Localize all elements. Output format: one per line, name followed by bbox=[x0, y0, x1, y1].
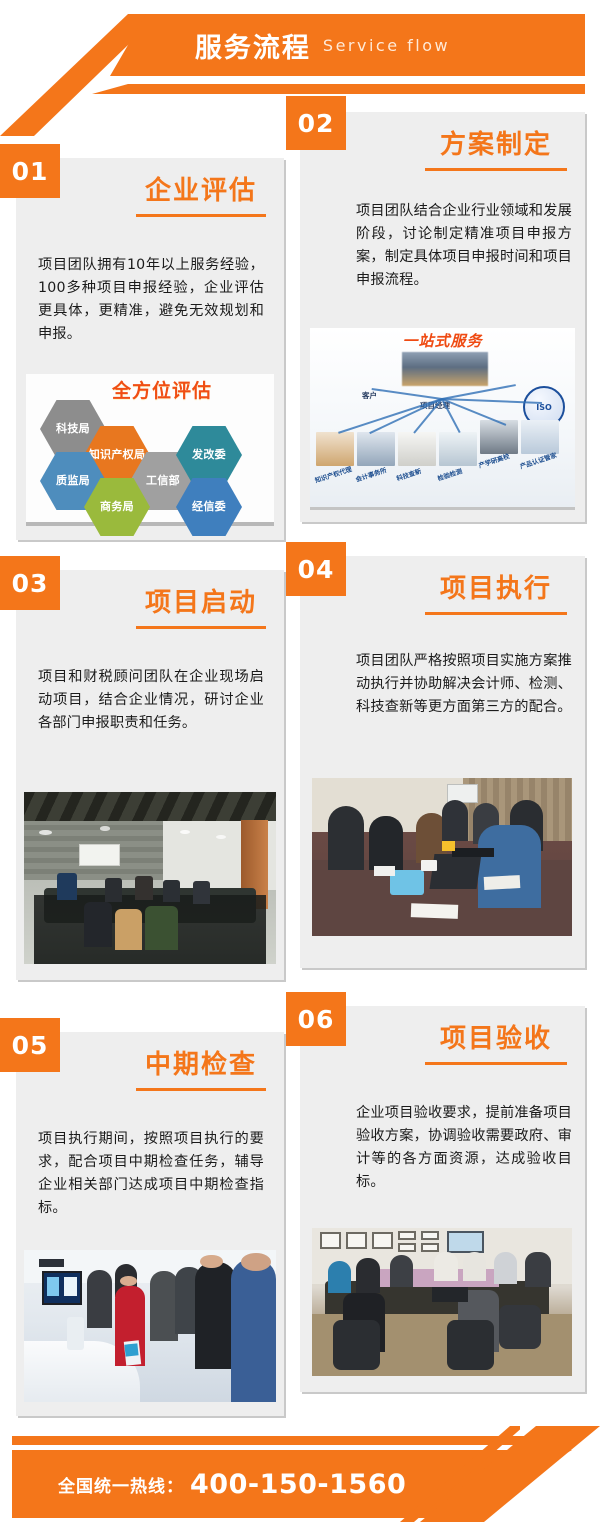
hex-node-label: 商务局 bbox=[100, 501, 134, 513]
card-title-06: 项目验收 bbox=[417, 1018, 575, 1065]
flow-arrow bbox=[372, 388, 442, 400]
flow-node bbox=[480, 420, 518, 454]
card-title-03: 项目启动 bbox=[128, 582, 274, 629]
page-title: 服务流程 bbox=[195, 26, 311, 65]
hex-node-label: 发改委 bbox=[192, 449, 226, 461]
card-header-01: 企业评估 bbox=[16, 158, 284, 234]
hex-node-label: 产权局 bbox=[111, 449, 145, 461]
hex-node-label: 科技局 bbox=[56, 423, 90, 435]
flow-diagram-title: 一站式服务 bbox=[310, 330, 575, 351]
hex-node-label: 经信委 bbox=[192, 501, 226, 513]
flow-diagram-image: 一站式服务 客户 项目经理 ISO 知识产权代理会计事务所科技查新检验检测产学研… bbox=[310, 328, 575, 510]
title-underline bbox=[136, 1088, 266, 1091]
flow-arrow bbox=[442, 384, 516, 400]
photo-acceptance-meeting bbox=[312, 1228, 572, 1376]
card-title-05: 中期检查 bbox=[128, 1044, 274, 1091]
hex-node-label: 工信部 bbox=[146, 475, 180, 487]
hex-diagram: 全方位评估 科技局知识产权局质监局工信部商务局发改委经信委 bbox=[26, 374, 274, 526]
step-card-03: 03 项目启动 项目和财税顾问团队在企业现场启动项目，结合企业情况，研讨企业各部… bbox=[16, 570, 284, 980]
flow-node bbox=[316, 432, 354, 466]
card-body-05: 项目执行期间，按照项目执行的要求，配合项目中期检查任务，辅导企业相关部门达成项目… bbox=[38, 1128, 264, 1220]
flow-node-label: 检验检测 bbox=[436, 466, 463, 482]
flow-node-label: 产学研高校 bbox=[477, 451, 510, 469]
step-card-02: 02 方案制定 项目团队结合企业行业领域和发展阶段，讨论制定精准项目申报方案，制… bbox=[300, 112, 585, 522]
flow-node bbox=[521, 420, 559, 454]
card-body-06: 企业项目验收要求，提前准备项目验收方案，协调验收需要政府、审计等的各方面资源，达… bbox=[356, 1102, 572, 1194]
flow-center-photo bbox=[402, 352, 488, 386]
card-title-02: 方案制定 bbox=[417, 124, 575, 171]
card-header-06: 项目验收 bbox=[300, 1006, 585, 1082]
flow-client-label: 客户 bbox=[362, 390, 377, 401]
card-body-02: 项目团队结合企业行业领域和发展阶段，讨论制定精准项目申报方案，制定具体项目申报时… bbox=[356, 200, 572, 292]
step-card-06: 06 项目验收 企业项目验收要求，提前准备项目验收方案，协调验收需要政府、审计等… bbox=[300, 1006, 585, 1392]
title-underline bbox=[136, 626, 266, 629]
card-header-02: 方案制定 bbox=[300, 112, 585, 188]
step-card-01: 01 企业评估 项目团队拥有10年以上服务经验，100多种项目申报经验，企业评估… bbox=[16, 158, 284, 540]
flow-node-label: 知识产权代理 bbox=[314, 464, 353, 484]
page-footer: 全国统一热线： 400-150-1560 bbox=[0, 1398, 605, 1538]
flow-node-label: 会计事务所 bbox=[354, 465, 387, 483]
flow-arrow bbox=[370, 398, 443, 434]
card-header-05: 中期检查 bbox=[16, 1032, 284, 1108]
flow-arrow bbox=[442, 398, 507, 426]
step-card-04: 04 项目执行 项目团队严格按照项目实施方案推动执行并协助解决会计师、检测、科技… bbox=[300, 556, 585, 968]
title-underline bbox=[425, 1062, 567, 1065]
footer-hotline-group: 全国统一热线： 400-150-1560 bbox=[58, 1450, 406, 1518]
card-title-01: 企业评估 bbox=[128, 170, 274, 217]
card-title-04: 项目执行 bbox=[417, 568, 575, 615]
photo-team-working bbox=[312, 778, 572, 936]
card-body-03: 项目和财税顾问团队在企业现场启动项目，结合企业情况，研讨企业各部门申报职责和任务… bbox=[38, 666, 264, 735]
footer-thin-bar bbox=[12, 1436, 572, 1445]
hex-diagram-title: 全方位评估 bbox=[112, 376, 212, 403]
card-body-01: 项目团队拥有10年以上服务经验，100多种项目申报经验，企业评估更具体，更精准，… bbox=[38, 254, 264, 346]
page-subtitle: Service flow bbox=[323, 36, 450, 55]
flow-node-label: 科技查新 bbox=[395, 466, 422, 482]
card-header-03: 项目启动 bbox=[16, 570, 284, 646]
title-underline bbox=[425, 168, 567, 171]
hotline-number[interactable]: 400-150-1560 bbox=[190, 1469, 406, 1500]
header-text-group: 服务流程 Service flow bbox=[0, 14, 585, 76]
photo-site-visit bbox=[24, 1250, 276, 1402]
hex-node-label: 质监局 bbox=[56, 475, 90, 487]
step-card-05: 05 中期检查 项目执行期间，按照项目执行的要求，配合项目中期检查任务，辅导企业… bbox=[16, 1032, 284, 1416]
hotline-label: 全国统一热线： bbox=[58, 1472, 184, 1497]
header-underline-bar bbox=[0, 84, 585, 94]
service-flow-infographic: 服务流程 Service flow 01 企业评估 项目团队拥有10年以上服务经… bbox=[0, 0, 605, 1538]
photo-conference-room bbox=[24, 792, 276, 964]
flow-node bbox=[398, 432, 436, 466]
card-body-04: 项目团队严格按照项目实施方案推动执行并协助解决会计师、检测、科技查新等更方面第三… bbox=[356, 650, 572, 719]
title-underline bbox=[425, 612, 567, 615]
title-underline bbox=[136, 214, 266, 217]
flow-node bbox=[357, 432, 395, 466]
card-header-04: 项目执行 bbox=[300, 556, 585, 632]
flow-node bbox=[439, 432, 477, 466]
